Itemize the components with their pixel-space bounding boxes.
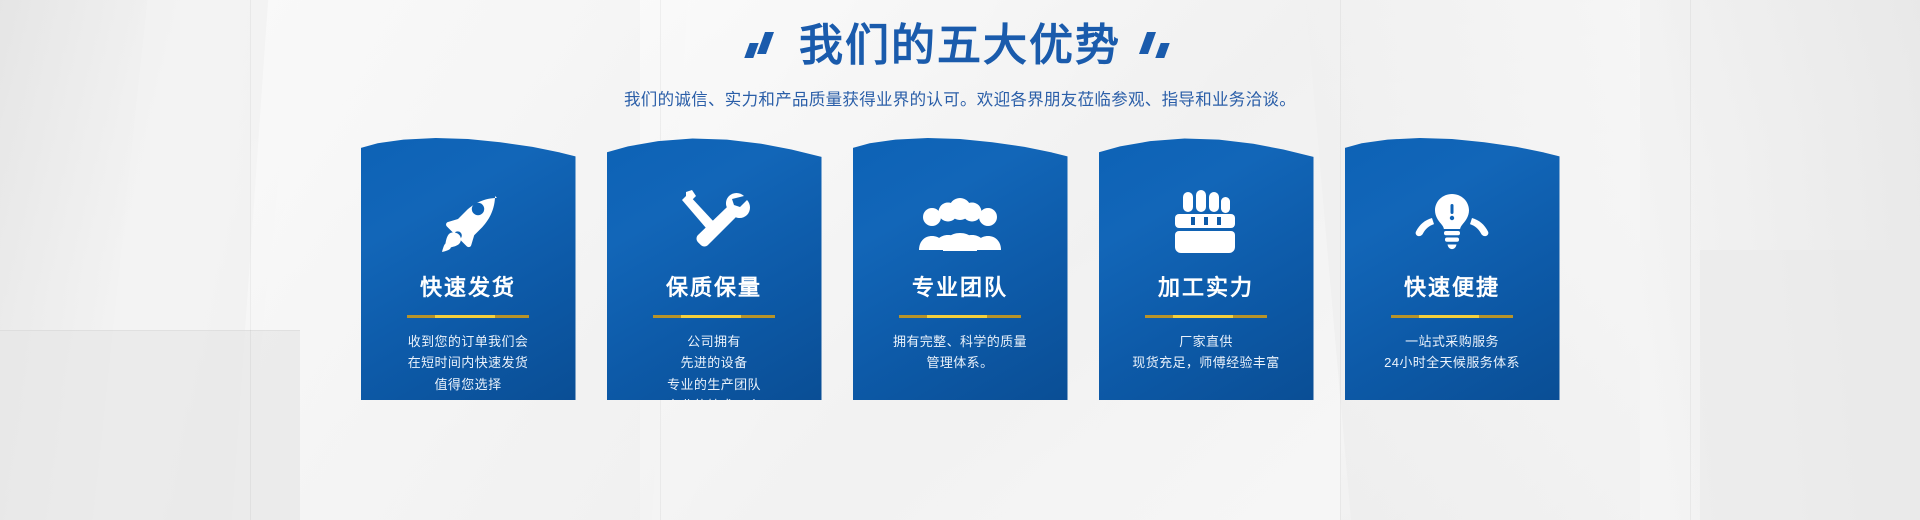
banner-header: 我们的五大优势 我们的诚信、实力和产品质量获得业界的认可。欢迎各界朋友莅临参观、…	[0, 0, 1920, 110]
lightbulb-in-hands-icon	[1345, 138, 1560, 254]
description-line: 专业的生产团队	[607, 374, 822, 395]
description-line: 收到您的订单我们会	[361, 331, 576, 352]
advantage-card-title: 快速便捷	[1345, 270, 1560, 302]
card-divider	[653, 315, 775, 318]
description-line: 24小时全天候服务体系	[1345, 352, 1560, 373]
rocket-icon	[361, 138, 576, 254]
fist-strength-icon	[1099, 138, 1314, 254]
advantages-banner: 我们的五大优势 我们的诚信、实力和产品质量获得业界的认可。欢迎各界朋友莅临参观、…	[0, 0, 1920, 520]
description-line: 厂家直供	[1099, 331, 1314, 352]
slash-ornament-right-icon	[1141, 31, 1175, 61]
description-line: 先进的设备	[607, 352, 822, 373]
advantage-card-title: 专业团队	[853, 270, 1068, 302]
description-line: 专业的技术工人	[607, 395, 822, 416]
description-line: 现货充足，师傅经验丰富	[1099, 352, 1314, 373]
team-people-icon	[853, 138, 1068, 254]
slash-ornament-left-icon	[745, 31, 779, 61]
description-line: 在短时间内快速发货	[361, 352, 576, 373]
description-line: 一站式采购服务	[1345, 331, 1560, 352]
card-divider	[407, 315, 529, 318]
description-line: 值得您选择	[361, 374, 576, 395]
advantage-card-description: 拥有完整、科学的质量 管理体系。	[853, 331, 1068, 374]
page-subtitle: 我们的诚信、实力和产品质量获得业界的认可。欢迎各界朋友莅临参观、指导和业务洽谈。	[0, 86, 1920, 110]
description-line: 拥有完整、科学的质量	[853, 331, 1068, 352]
description-line: 公司拥有	[607, 331, 822, 352]
advantage-card-description: 公司拥有 先进的设备 专业的生产团队 专业的技术工人	[607, 331, 822, 417]
wrench-screwdriver-icon	[607, 138, 822, 254]
advantage-card-description: 收到您的订单我们会 在短时间内快速发货 值得您选择	[361, 331, 576, 395]
advantage-card-title: 快速发货	[361, 270, 576, 302]
advantage-card[interactable]: 专业团队 拥有完整、科学的质量 管理体系。	[853, 138, 1068, 400]
advantage-card-title: 加工实力	[1099, 270, 1314, 302]
advantage-card[interactable]: 快速便捷 一站式采购服务 24小时全天候服务体系	[1345, 138, 1560, 400]
advantage-card[interactable]: 快速发货 收到您的订单我们会 在短时间内快速发货 值得您选择	[361, 138, 576, 400]
advantage-card[interactable]: 加工实力 厂家直供 现货充足，师傅经验丰富	[1099, 138, 1314, 400]
card-divider	[1145, 315, 1267, 318]
card-divider	[1391, 315, 1513, 318]
description-line: 管理体系。	[853, 352, 1068, 373]
page-title: 我们的五大优势	[799, 18, 1121, 73]
advantage-card-description: 厂家直供 现货充足，师傅经验丰富	[1099, 331, 1314, 374]
advantage-card[interactable]: 保质保量 公司拥有 先进的设备 专业的生产团队 专业的技术工人	[607, 138, 822, 400]
advantage-card-title: 保质保量	[607, 270, 822, 302]
card-divider	[899, 315, 1021, 318]
title-row: 我们的五大优势	[0, 18, 1920, 73]
advantage-card-description: 一站式采购服务 24小时全天候服务体系	[1345, 331, 1560, 374]
advantage-card-list: 快速发货 收到您的订单我们会 在短时间内快速发货 值得您选择	[0, 138, 1920, 400]
